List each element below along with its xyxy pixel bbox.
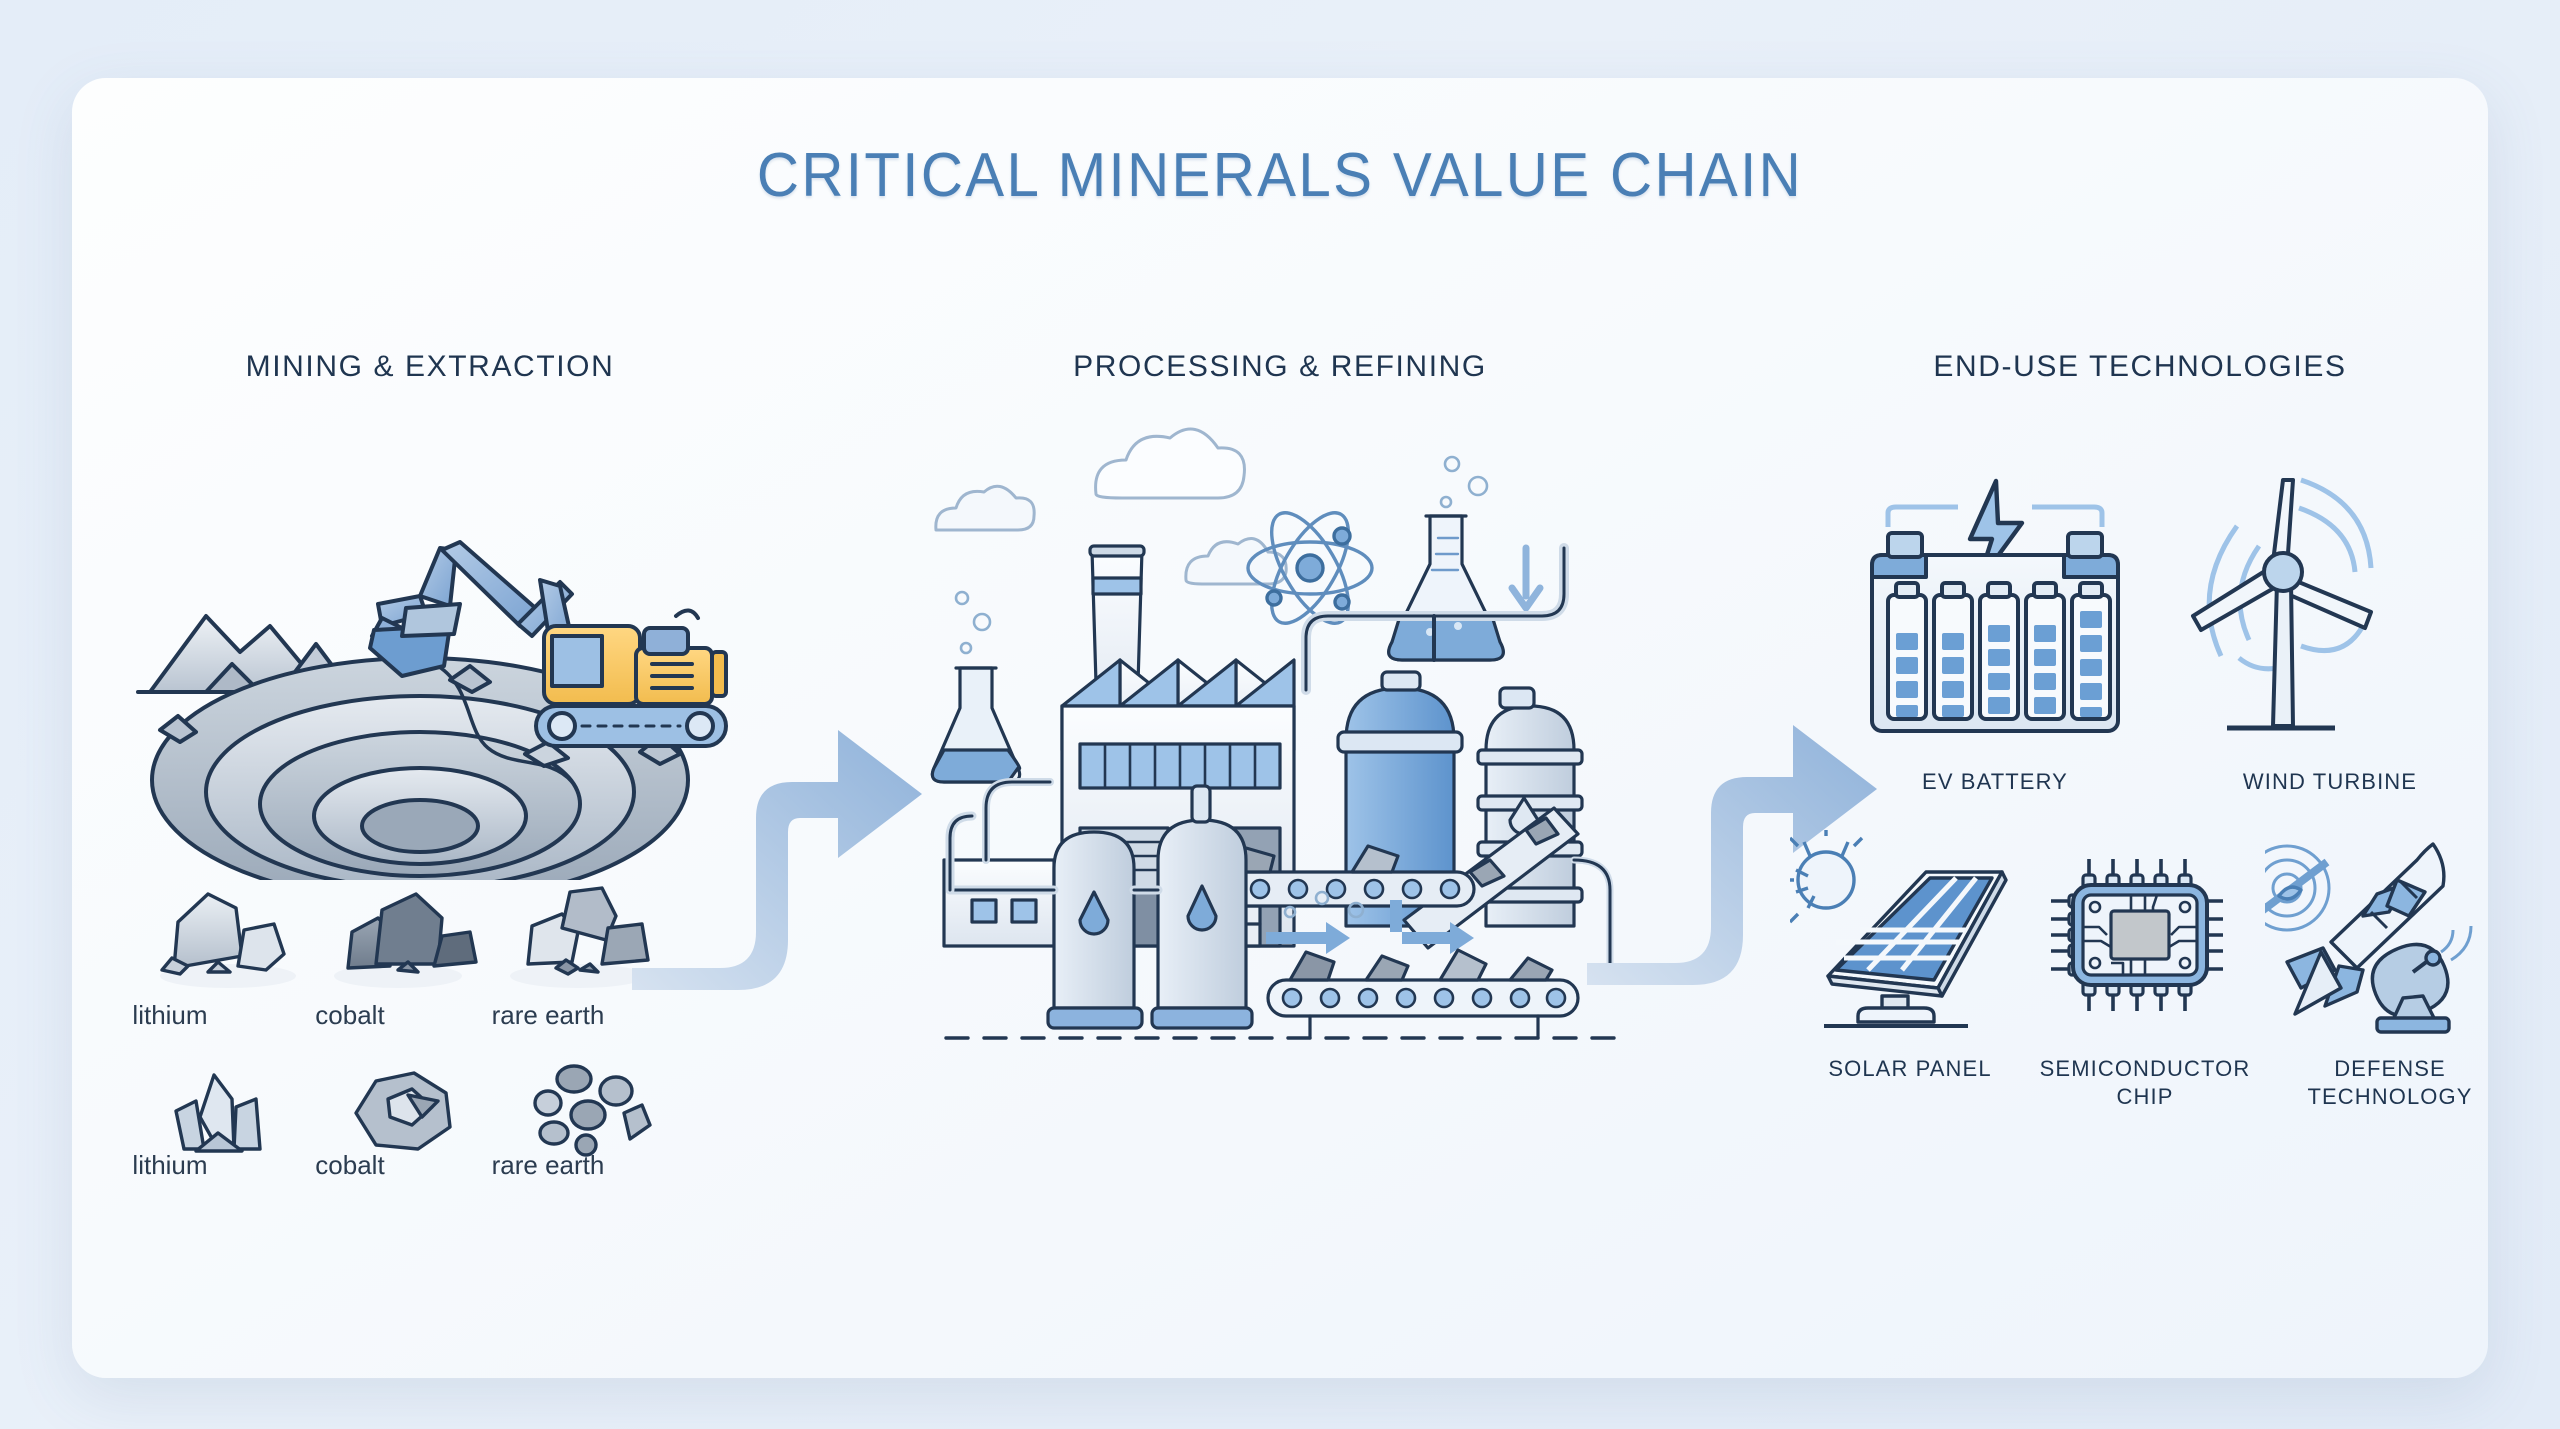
cobalt-rocks-icon (348, 894, 476, 972)
water-tank-icon (1048, 832, 1142, 1028)
tech-label-solar-panel: SOLAR PANEL (1770, 1055, 2050, 1083)
tech-label-wind-turbine: WIND TURBINE (2170, 768, 2490, 796)
bubble-icon (956, 592, 990, 653)
flask-icon (932, 668, 1019, 782)
mineral-icons-row-1 (150, 870, 680, 1000)
arrow-mining-to-processing (630, 700, 960, 990)
section-heading-enduse: END-USE TECHNOLOGIES (1780, 350, 2500, 384)
mineral-label-rare-earth-1: rare earth (418, 1000, 678, 1031)
processing-scene (930, 420, 1690, 1040)
section-heading-mining: MINING & EXTRACTION (100, 350, 760, 384)
conveyor-belt-icon (1268, 950, 1578, 1038)
solar-panel-icon (1790, 830, 2020, 1030)
infographic-page: CRITICAL MINERALS VALUE CHAIN MINING & E… (0, 0, 2560, 1429)
sun-icon (1790, 830, 1862, 922)
tech-label-defense-technology: DEFENSE TECHNOLOGY (2250, 1055, 2530, 1110)
mineral-icons-row-2 (150, 1055, 680, 1165)
cobalt-nugget-icon (356, 1073, 450, 1149)
lithium-crystal-icon (176, 1075, 260, 1151)
rare-earth-granules-icon (535, 1066, 650, 1155)
section-heading-processing: PROCESSING & REFINING (950, 350, 1610, 384)
wind-turbine-icon (2165, 450, 2455, 740)
lithium-rocks-icon (162, 894, 284, 974)
tech-label-semiconductor-chip: SEMICONDUCTOR CHIP (2020, 1055, 2270, 1110)
semiconductor-chip-icon (2045, 835, 2240, 1035)
page-title: CRITICAL MINERALS VALUE CHAIN (77, 140, 2483, 211)
bubble-icon (1441, 457, 1487, 507)
defense-technology-icon (2265, 820, 2505, 1035)
ev-battery-icon (1850, 455, 2140, 745)
tech-label-ev-battery: EV BATTERY (1830, 768, 2160, 796)
mineral-label-rare-earth-2: rare earth (418, 1150, 678, 1181)
flask-icon (1389, 516, 1504, 660)
